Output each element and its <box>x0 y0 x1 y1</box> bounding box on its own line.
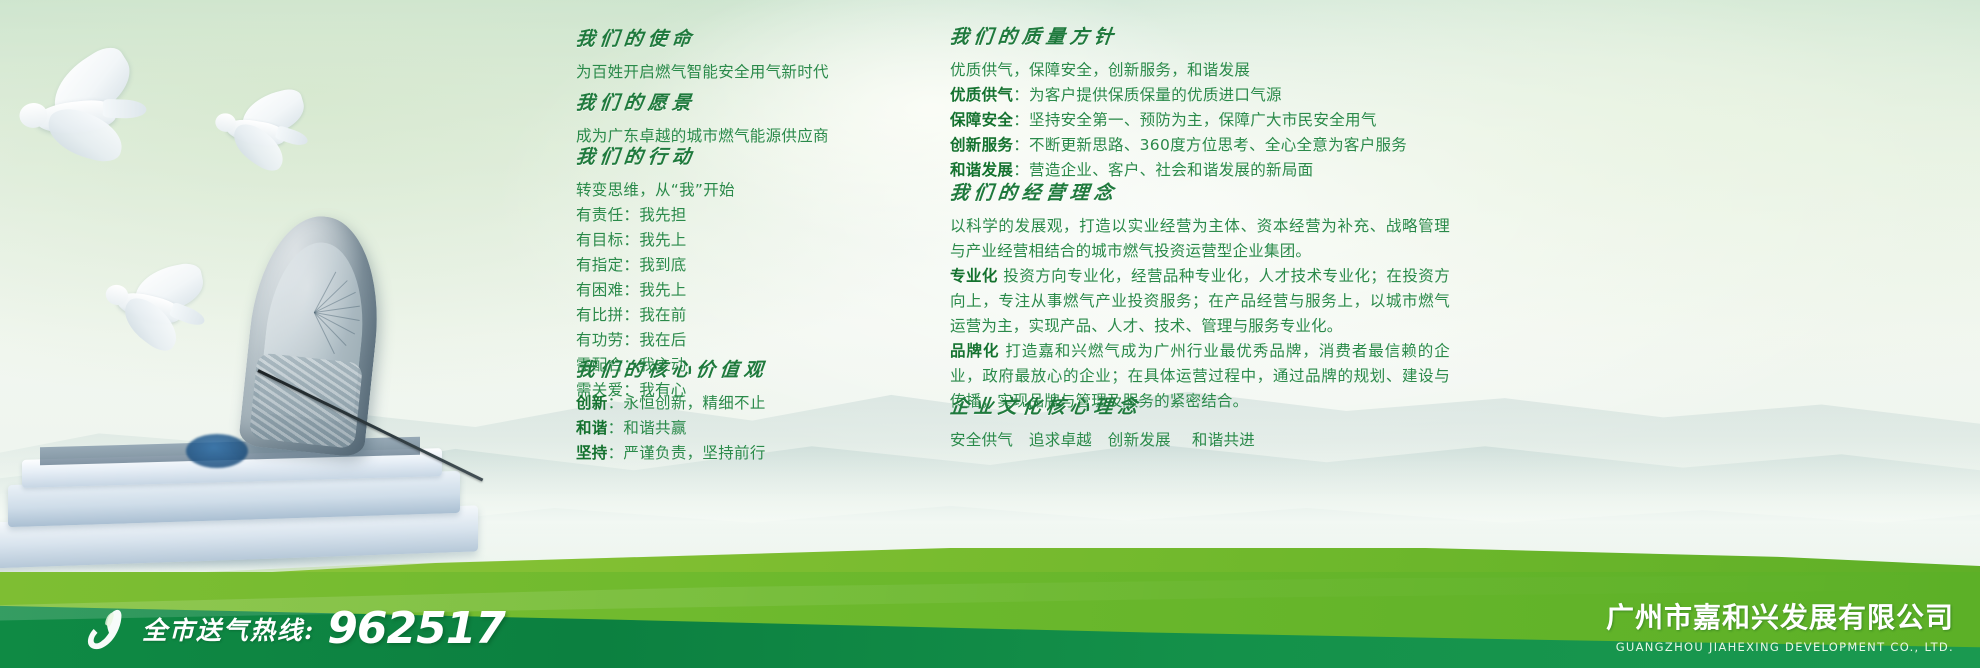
corporate-culture-poster: 我们的使命 为百姓开启燃气智能安全用气新时代 我们的愿景 成为广东卓越的城市燃气… <box>0 0 1980 668</box>
management-philosophy-text: 投资方向专业化，经营品种专业化，人才技术专业化；在投资方向上，专注从事燃气产业投… <box>950 267 1450 335</box>
quality-policy-item: 优质供气：为客户提供保质保量的优质进口气源 <box>950 83 1407 108</box>
culture-core-values: 安全供气 追求卓越 创新发展 和谐共进 <box>950 428 1255 453</box>
core-value-item: 创新：永恒创新，精细不止 <box>576 391 768 416</box>
mission-line: 为百姓开启燃气智能安全用气新时代 <box>576 60 829 85</box>
section-core-values: 我们的核心价值观 创新：永恒创新，精细不止 和谐：和谐共赢 坚持：严谨负责，坚持… <box>576 355 768 466</box>
quality-policy-summary: 优质供气，保障安全，创新服务，和谐发展 <box>950 58 1407 83</box>
core-value-item: 和谐：和谐共赢 <box>576 416 768 441</box>
section-heading-management-philosophy: 我们的经营理念 <box>949 178 1452 205</box>
quality-policy-text: 不断更新思路、360度方位思考、全心全意为客户服务 <box>1029 136 1407 154</box>
quality-policy-label: 优质供气 <box>950 86 1013 104</box>
section-quality-policy: 我们的质量方针 优质供气，保障安全，创新服务，和谐发展 优质供气：为客户提供保质… <box>950 22 1407 183</box>
action-line: 有责任：我先担 <box>576 203 735 228</box>
section-mission: 我们的使命 为百姓开启燃气智能安全用气新时代 <box>576 24 829 85</box>
action-line: 有功劳：我在后 <box>576 328 735 353</box>
dove-tail <box>103 99 147 119</box>
core-value-item: 坚持：严谨负责，坚持前行 <box>576 441 768 466</box>
monument-blue-accent <box>186 434 248 468</box>
culture-core-value: 和谐共进 <box>1192 431 1255 449</box>
quality-policy-item: 创新服务：不断更新思路、360度方位思考、全心全意为客户服务 <box>950 133 1407 158</box>
management-philosophy-paragraph: 专业化 投资方向专业化，经营品种专业化，人才技术专业化；在投资方向上，专注从事燃… <box>950 264 1450 339</box>
management-philosophy-intro: 以科学的发展观，打造以实业经营为主体、资本经营为补充、战略管理与产业经营相结合的… <box>950 214 1450 264</box>
quality-policy-label: 和谐发展 <box>950 161 1013 179</box>
management-philosophy-label: 品牌化 <box>950 342 1000 360</box>
action-line: 有目标：我先上 <box>576 228 735 253</box>
quality-policy-separator: ： <box>1013 111 1029 129</box>
core-value-separator: ： <box>608 394 624 412</box>
core-value-label: 创新 <box>576 394 608 412</box>
action-line: 有指定：我到底 <box>576 253 735 278</box>
quality-policy-text: 营造企业、客户、社会和谐发展的新局面 <box>1029 161 1313 179</box>
core-value-label: 和谐 <box>576 419 608 437</box>
core-value-separator: ： <box>608 419 624 437</box>
stone-sundial-monument <box>0 158 560 578</box>
sundial-wave-carving <box>249 352 363 449</box>
quality-policy-separator: ： <box>1013 86 1029 104</box>
culture-core-value: 追求卓越 <box>1029 431 1092 449</box>
core-value-separator: ： <box>608 444 624 462</box>
hotline-block[interactable]: 全市送气热线: 962517 <box>86 603 505 654</box>
core-value-text: 永恒创新，精细不止 <box>623 394 765 412</box>
section-heading-vision: 我们的愿景 <box>575 88 831 115</box>
section-heading-action: 我们的行动 <box>575 142 737 169</box>
section-heading-culture-core: 企业文化核心理念 <box>949 392 1257 419</box>
quality-policy-separator: ： <box>1013 136 1029 154</box>
section-culture-core: 企业文化核心理念 安全供气 追求卓越 创新发展 和谐共进 <box>950 392 1255 453</box>
section-heading-mission: 我们的使命 <box>575 24 831 51</box>
core-value-text: 严谨负责，坚持前行 <box>623 444 765 462</box>
core-value-text: 和谐共赢 <box>623 419 686 437</box>
hotline-label: 全市送气热线: <box>142 611 315 647</box>
quality-policy-label: 保障安全 <box>950 111 1013 129</box>
core-value-label: 坚持 <box>576 444 608 462</box>
section-heading-quality-policy: 我们的质量方针 <box>949 22 1409 49</box>
action-line: 有困难：我先上 <box>576 278 735 303</box>
management-philosophy-label: 专业化 <box>950 267 998 285</box>
culture-core-value: 创新发展 <box>1108 431 1171 449</box>
telephone-handset-icon <box>86 606 132 652</box>
action-line: 转变思维，从“我”开始 <box>576 178 735 203</box>
hotline-number[interactable]: 962517 <box>327 603 505 654</box>
quality-policy-separator: ： <box>1013 161 1029 179</box>
section-heading-core-values: 我们的核心价值观 <box>575 355 770 382</box>
section-management-philosophy: 我们的经营理念 以科学的发展观，打造以实业经营为主体、资本经营为补充、战略管理与… <box>950 178 1450 414</box>
company-name-chinese: 广州市嘉和兴发展有限公司 <box>1606 596 1954 636</box>
culture-core-value: 安全供气 <box>950 431 1013 449</box>
quality-policy-text: 坚持安全第一、预防为主，保障广大市民安全用气 <box>1029 111 1377 129</box>
company-name-block: 广州市嘉和兴发展有限公司 GUANGZHOU JIAHEXING DEVELOP… <box>1606 596 1954 654</box>
company-name-english: GUANGZHOU JIAHEXING DEVELOPMENT CO., LTD… <box>1606 640 1954 654</box>
quality-policy-label: 创新服务 <box>950 136 1013 154</box>
quality-policy-text: 为客户提供保质保量的优质进口气源 <box>1029 86 1282 104</box>
action-line: 有比拼：我在前 <box>576 303 735 328</box>
section-vision: 我们的愿景 成为广东卓越的城市燃气能源供应商 <box>576 88 829 149</box>
quality-policy-item: 保障安全：坚持安全第一、预防为主，保障广大市民安全用气 <box>950 108 1407 133</box>
